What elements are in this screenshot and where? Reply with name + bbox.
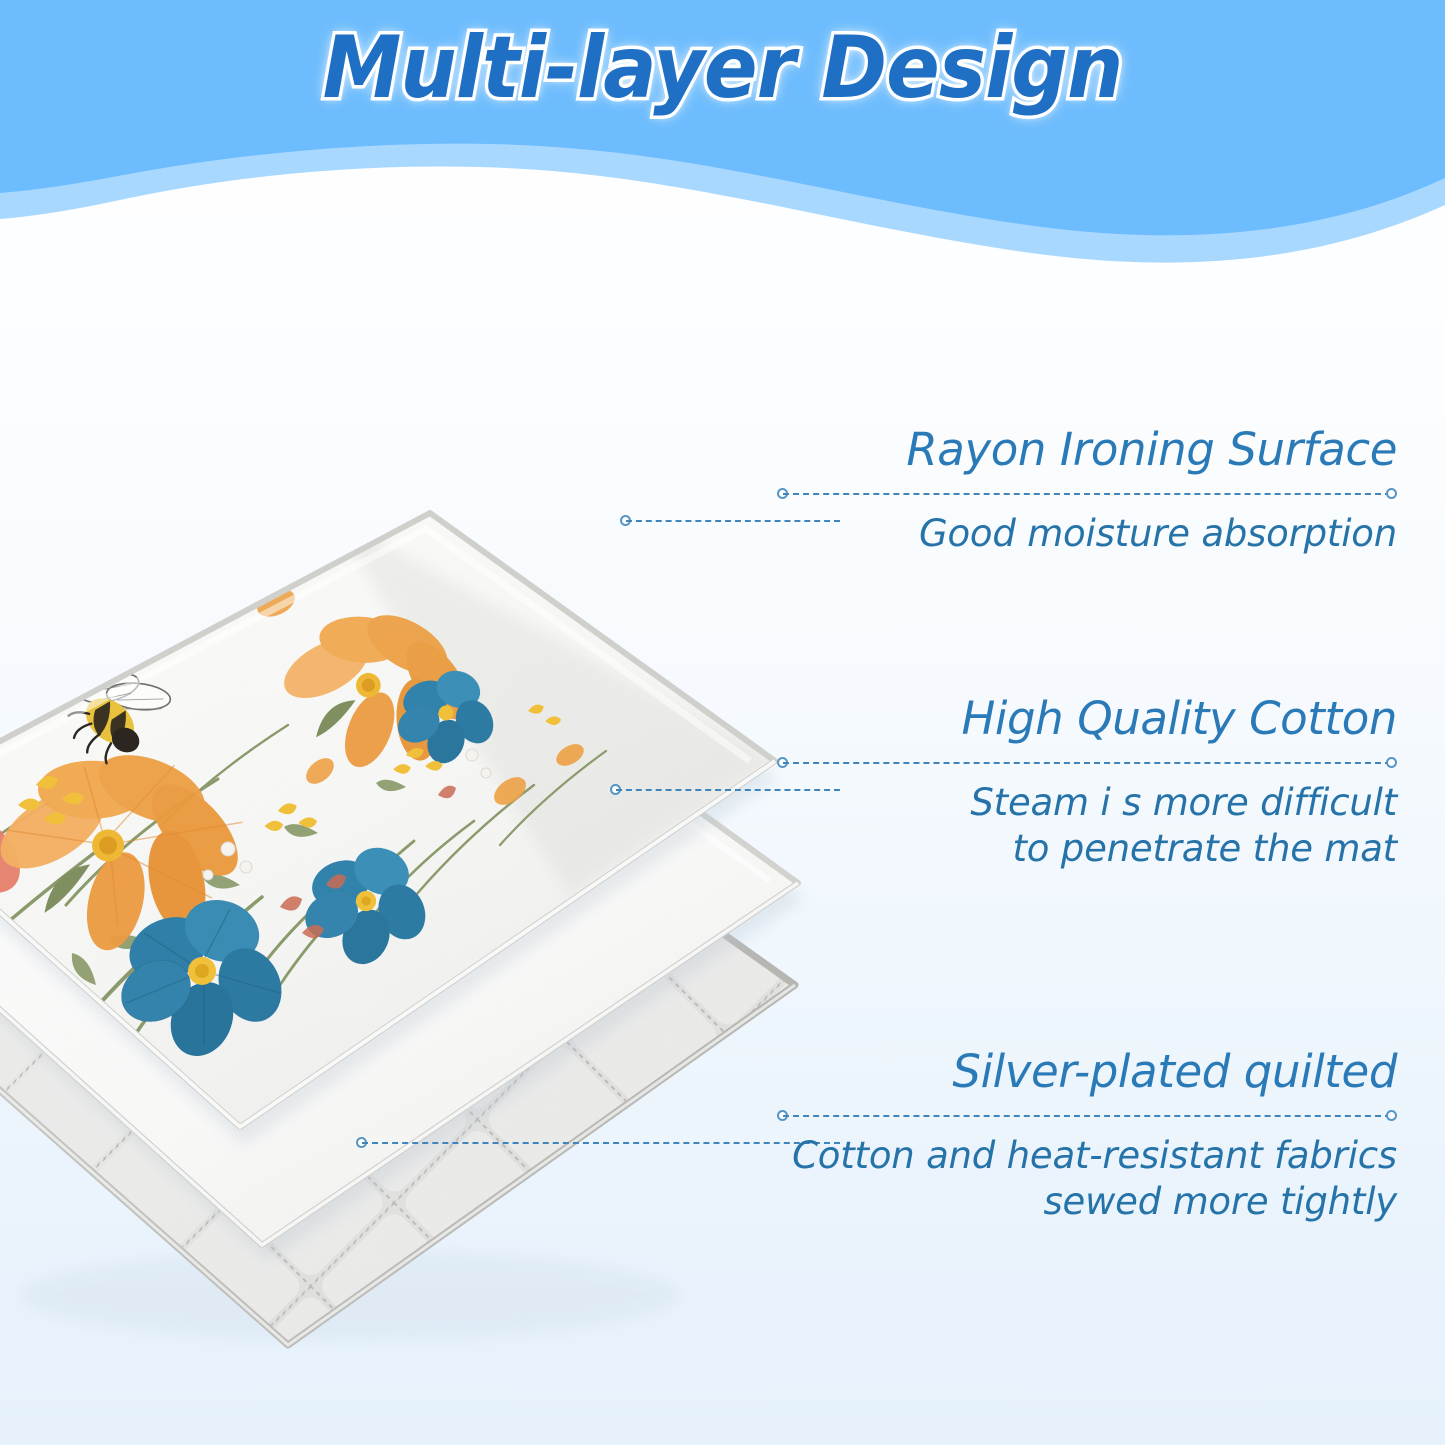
feature-rayon-ironing-surface: Rayon Ironing Surface Good moisture abso… xyxy=(777,425,1397,557)
feature-subtitle-line: Good moisture absorption xyxy=(777,511,1397,556)
feature-subtitle-quilted: Cotton and heat-resistant fabrics sewed … xyxy=(777,1133,1397,1223)
feature-divider-quilted xyxy=(777,1109,1397,1123)
feature-subtitle-line: Cotton and heat-resistant fabrics xyxy=(777,1133,1397,1178)
divider-dot-right xyxy=(1386,1110,1397,1121)
product-infographic: Multi-layer Design xyxy=(0,0,1445,1445)
page-title: Multi-layer Design xyxy=(58,18,1387,118)
feature-title-rayon: Rayon Ironing Surface xyxy=(777,425,1397,475)
feature-subtitle-line: Steam i s more difficult xyxy=(777,780,1397,825)
banner-wave-shape xyxy=(0,0,1445,270)
feature-divider-cotton xyxy=(777,756,1397,770)
feature-divider-rayon xyxy=(777,487,1397,501)
feature-high-quality-cotton: High Quality Cotton Steam i s more diffi… xyxy=(777,694,1397,871)
feature-title-cotton: High Quality Cotton xyxy=(777,694,1397,744)
feature-title-quilted: Silver-plated quilted xyxy=(777,1047,1397,1097)
divider-dot-right xyxy=(1386,488,1397,499)
feature-subtitle-cotton: Steam i s more difficult to penetrate th… xyxy=(777,780,1397,870)
feature-subtitle-rayon: Good moisture absorption xyxy=(777,511,1397,556)
feature-silver-plated-quilted: Silver-plated quilted Cotton and heat-re… xyxy=(777,1047,1397,1224)
header-banner: Multi-layer Design xyxy=(0,0,1445,270)
feature-subtitle-line: to penetrate the mat xyxy=(777,826,1397,871)
banner-wave-main xyxy=(0,0,1445,235)
banner-wave-light xyxy=(0,0,1445,263)
product-layer-stack xyxy=(0,285,810,1415)
feature-subtitle-line: sewed more tightly xyxy=(777,1179,1397,1224)
divider-dot-right xyxy=(1386,757,1397,768)
